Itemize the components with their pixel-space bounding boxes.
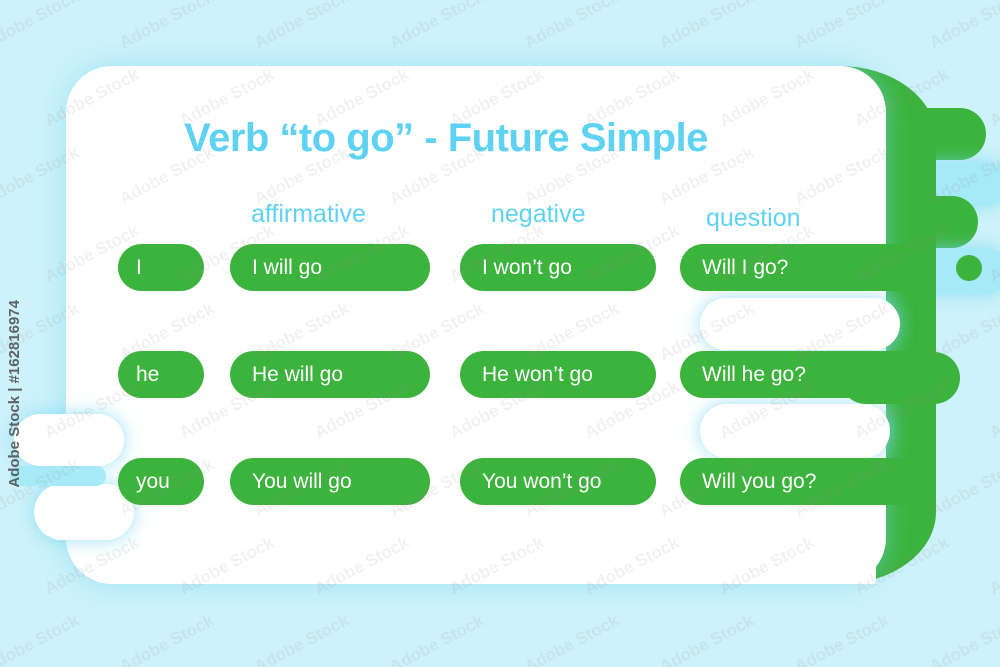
page-title: Verb “to go” - Future Simple xyxy=(66,116,826,161)
column-header-affirmative: affirmative xyxy=(251,200,366,229)
watermark-tile: Adobe Stock xyxy=(251,0,352,53)
watermark-tile: Adobe Stock xyxy=(656,611,757,667)
watermark-tile: Adobe Stock xyxy=(791,611,892,667)
watermark-tile: Adobe Stock xyxy=(521,611,622,667)
pill-pronoun[interactable]: you xyxy=(118,458,204,505)
watermark-tile: Adobe Stock xyxy=(251,611,352,667)
column-header-question: question xyxy=(706,204,801,233)
watermark-text: Adobe Stock | #162816974 xyxy=(6,300,23,488)
watermark-tile: Adobe Stock xyxy=(521,0,622,53)
pill-negative[interactable]: I won’t go xyxy=(460,244,656,291)
watermark-tile: Adobe Stock xyxy=(926,0,1000,53)
pill-negative[interactable]: You won’t go xyxy=(460,458,656,505)
pill-pronoun[interactable]: I xyxy=(118,244,204,291)
watermark-tile: Adobe Stock xyxy=(116,611,217,667)
watermark-tile: Adobe Stock xyxy=(0,0,83,53)
column-header-negative: negative xyxy=(491,200,586,229)
infographic-canvas: Verb “to go” - Future Simple affirmative… xyxy=(0,0,1000,667)
decor-green-dot xyxy=(956,255,982,281)
pill-affirmative[interactable]: He will go xyxy=(230,351,430,398)
watermark-tile: Adobe Stock xyxy=(986,65,1000,131)
pill-affirmative[interactable]: You will go xyxy=(230,458,430,505)
pill-affirmative[interactable]: I will go xyxy=(230,244,430,291)
watermark-tile: Adobe Stock xyxy=(986,377,1000,443)
watermark-tile: Adobe Stock xyxy=(791,0,892,53)
pill-question[interactable]: Will you go? xyxy=(680,458,930,505)
watermark-tile: Adobe Stock xyxy=(0,611,83,667)
pill-pronoun[interactable]: he xyxy=(118,351,204,398)
pill-question[interactable]: Will he go? xyxy=(680,351,930,398)
pill-question[interactable]: Will I go? xyxy=(680,244,930,291)
watermark-tile: Adobe Stock xyxy=(656,0,757,53)
watermark-tile: Adobe Stock xyxy=(116,0,217,53)
pill-negative[interactable]: He won’t go xyxy=(460,351,656,398)
watermark-tile: Adobe Stock xyxy=(386,0,487,53)
watermark-tile: Adobe Stock xyxy=(926,611,1000,667)
watermark-tile: Adobe Stock xyxy=(926,455,1000,521)
watermark-tile: Adobe Stock xyxy=(386,611,487,667)
table-content: Verb “to go” - Future Simple affirmative… xyxy=(66,66,886,584)
watermark-tile: Adobe Stock xyxy=(986,533,1000,599)
